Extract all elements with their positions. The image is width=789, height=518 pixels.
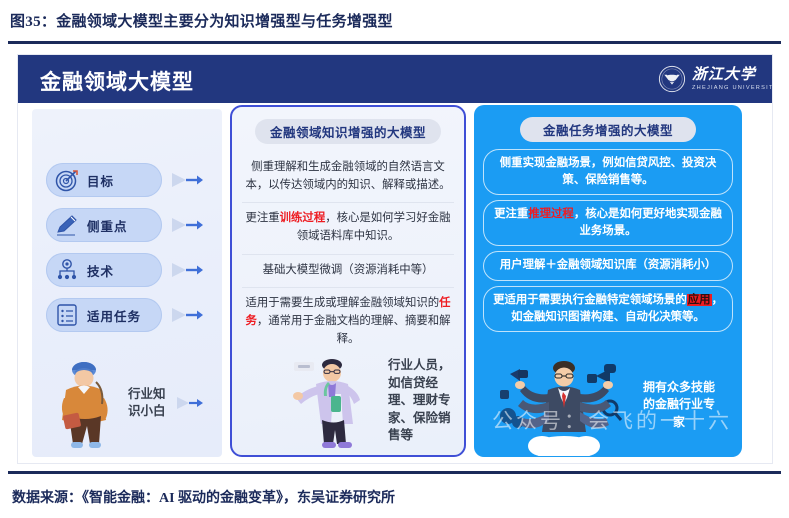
row-text: 侧重实现金融场景，例如信贷风控、投资决策、保险销售等。 xyxy=(500,157,716,186)
university-name-cn: 浙江大学 xyxy=(692,68,756,83)
row-text: 更注重 xyxy=(245,212,279,224)
task-panel-rows: 侧重实现金融场景，例如信贷风控、投资决策、保险销售等。 更注重推理过程，核心是如… xyxy=(483,149,733,332)
list-item[interactable]: 侧重点 xyxy=(46,206,204,244)
dimension-pill-technology[interactable]: 技术 xyxy=(46,253,162,287)
knowledge-panel-caption: 金融领域知识增强的大模型 xyxy=(255,119,441,144)
professional-persona-label: 行业人员，如信贷经理、理财专家、保险销售等 xyxy=(388,357,458,445)
task-enhanced-panel: 金融任务增强的大模型 侧重实现金融场景，例如信贷风控、投资决策、保险销售等。 更… xyxy=(474,105,742,457)
row-text: 更注重 xyxy=(494,208,528,220)
knowledge-row-0: 侧重理解和生成金融领域的自然语言文本，以传达领域内的知识、解释或描述。 xyxy=(242,152,454,202)
professional-persona: 行业人员，如信贷经理、理财专家、保险销售等 xyxy=(232,351,464,451)
university-logo: 浙江大学 ZHEJIANG UNIVERSITY xyxy=(658,63,756,95)
knowledge-panel-rows: 侧重理解和生成金融领域的自然语言文本，以传达领域内的知识、解释或描述。 更注重训… xyxy=(242,152,454,356)
dimension-pill-target[interactable]: 目标 xyxy=(46,163,162,197)
task-row-3: 更适用于需要执行金融特定领域场景的应用，如金融知识图谱构建、自动化决策等。 xyxy=(483,286,733,332)
row-text: 更适用于需要执行金融特定领域场景的 xyxy=(493,294,687,306)
right-arrow-icon xyxy=(170,170,204,190)
right-arrow-icon xyxy=(170,215,204,235)
row-text: 基础大模型微调（资源消耗中等） xyxy=(263,264,434,276)
task-panel-caption: 金融任务增强的大模型 xyxy=(520,117,696,142)
knowledge-enhanced-panel: 金融领域知识增强的大模型 侧重理解和生成金融领域的自然语言文本，以传达领域内的知… xyxy=(230,105,466,457)
slide-card: 金融领域大模型 浙江大学 ZHEJIANG UNIVERSITY xyxy=(18,55,772,463)
list-item[interactable]: 技术 xyxy=(46,251,204,289)
dimension-label: 适用任务 xyxy=(87,306,141,325)
dimension-column: 目标 xyxy=(32,109,222,457)
row-text: ，通常用于金融文档的理解、摘要和解释。 xyxy=(257,315,451,345)
row-highlight: 应用 xyxy=(687,294,712,306)
university-logo-text: 浙江大学 ZHEJIANG UNIVERSITY xyxy=(692,68,756,89)
checklist-icon xyxy=(54,302,80,328)
right-arrow-icon xyxy=(176,394,204,412)
row-text: 侧重理解和生成金融领域的自然语言文本，以传达领域内的知识、解释或描述。 xyxy=(245,161,450,191)
pencil-icon xyxy=(54,212,80,238)
comparison-body: 目标 xyxy=(18,103,772,463)
novice-student-illustration xyxy=(40,356,126,450)
list-item[interactable]: 目标 xyxy=(46,161,204,199)
knowledge-row-3: 适用于需要生成或理解金融领域知识的任务，通常用于金融文档的理解、摘要和解释。 xyxy=(242,287,454,356)
dimension-list: 目标 xyxy=(46,161,204,341)
dimension-pill-tasks[interactable]: 适用任务 xyxy=(46,298,162,332)
dimension-pill-focus[interactable]: 侧重点 xyxy=(46,208,162,242)
dimension-label: 目标 xyxy=(87,171,114,190)
source-divider xyxy=(8,471,781,474)
row-highlight: 训练过程 xyxy=(280,212,326,224)
expert-persona-label: 拥有众多技能的金融行业专家 xyxy=(642,379,716,431)
right-arrow-icon xyxy=(170,260,204,280)
task-row-2: 用户理解＋金融领域知识库（资源消耗小） xyxy=(483,251,733,280)
row-text: 用户理解＋金融领域知识库（资源消耗小） xyxy=(500,259,716,271)
knowledge-row-1: 更注重训练过程，核心是如何学习好金融领域语料库中知识。 xyxy=(242,202,454,253)
slide-header: 金融领域大模型 浙江大学 ZHEJIANG UNIVERSITY xyxy=(18,55,772,103)
figure-title: 图35：金融领域大模型主要分为知识增强型与任务增强型 xyxy=(10,10,770,31)
right-arrow-icon xyxy=(170,305,204,325)
list-item[interactable]: 适用任务 xyxy=(46,296,204,334)
target-icon xyxy=(54,167,80,193)
task-row-1: 更注重推理过程，核心是如何更好地实现金融业务场景。 xyxy=(483,200,733,246)
university-name-en: ZHEJIANG UNIVERSITY xyxy=(692,85,772,91)
task-row-0: 侧重实现金融场景，例如信贷风控、投资决策、保险销售等。 xyxy=(483,149,733,195)
novice-persona: 行业知识小白 xyxy=(40,355,218,451)
multi-armed-expert-illustration xyxy=(492,354,642,456)
doctor-professional-illustration xyxy=(276,352,384,450)
row-text: 适用于需要生成或理解金融领域知识的 xyxy=(245,297,439,309)
dimension-label: 技术 xyxy=(87,261,114,280)
row-text: ，核心是如何更好地实现金融业务场景。 xyxy=(574,208,722,237)
title-divider-top xyxy=(8,41,781,44)
novice-persona-label: 行业知识小白 xyxy=(128,386,174,420)
knowledge-row-2: 基础大模型微调（资源消耗中等） xyxy=(242,254,454,288)
row-highlight: 推理过程 xyxy=(528,208,574,220)
expert-persona: 拥有众多技能的金融行业专家 xyxy=(474,353,742,457)
hierarchy-network-icon xyxy=(54,257,80,283)
source-note: 数据来源：《智能金融：AI 驱动的金融变革》，东吴证券研究所 xyxy=(12,487,395,507)
zhejiang-university-seal-icon xyxy=(658,65,686,93)
slide-header-title: 金融领域大模型 xyxy=(40,66,194,96)
dimension-label: 侧重点 xyxy=(87,216,128,235)
